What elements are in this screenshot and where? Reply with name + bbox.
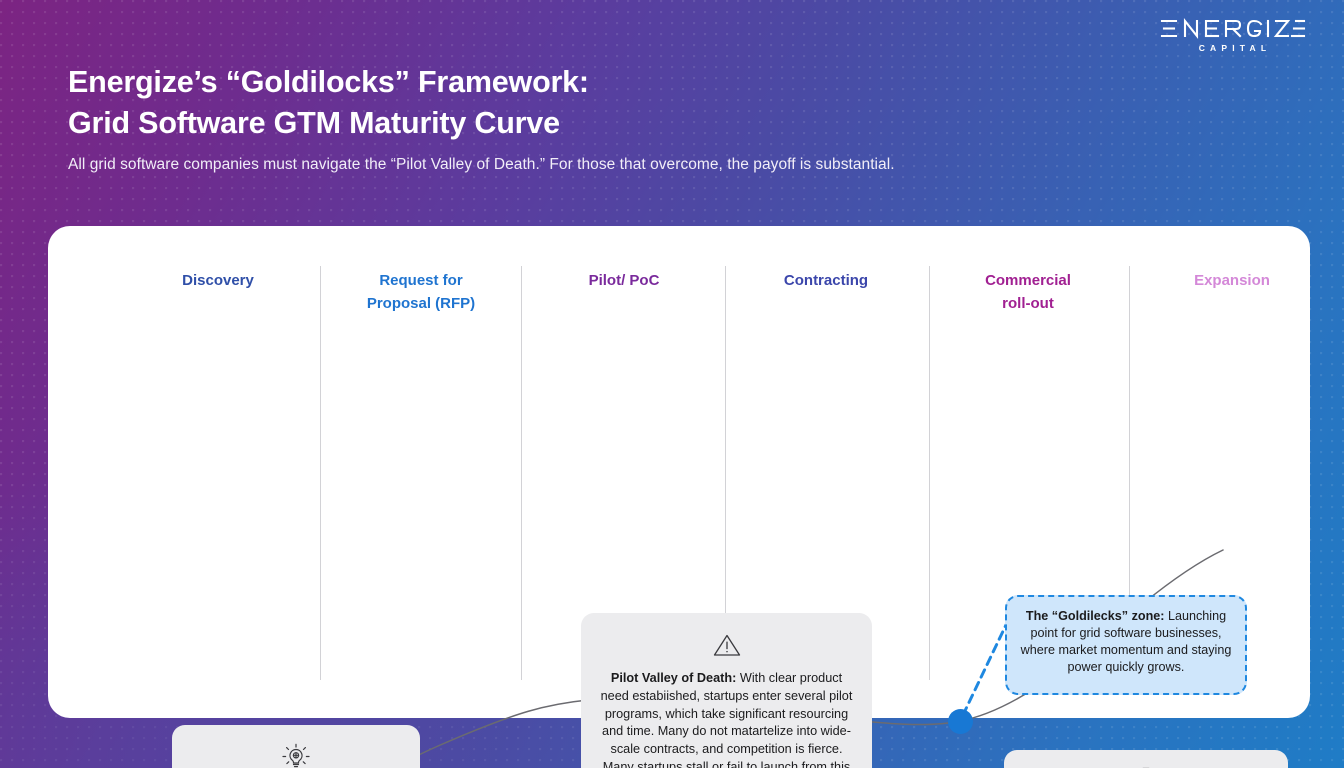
growth-inflection-dot[interactable] xyxy=(948,709,973,734)
goldilocks-zone-text: The “Goldilecks” zone: Launching point f… xyxy=(1020,608,1232,677)
lightbulb-icon xyxy=(280,741,312,768)
header: Energize’s “Goldilocks” Framework: Grid … xyxy=(68,62,1228,174)
page-title: Energize’s “Goldilocks” Framework: Grid … xyxy=(68,62,1228,143)
page-subtitle: All grid software companies must navigat… xyxy=(68,156,1228,174)
card-title: Pilot Valley of Death: xyxy=(611,671,737,685)
warning-triangle-icon xyxy=(597,629,856,661)
pilot-valley-of-death-card: Pilot Valley of Death: With clear produc… xyxy=(581,613,872,768)
vision-stage-card: “Vision” stage: Companies launch to eell… xyxy=(172,725,420,768)
energize-capital-logo: CAPITAL xyxy=(1160,18,1306,53)
card-body: Pilot Valley of Death: With clear produc… xyxy=(597,670,856,768)
energize-wordmark-icon xyxy=(1160,18,1306,40)
utility-buy-in-card: Utility buy-in: Startups earn several ha… xyxy=(1004,750,1288,768)
lightbulb-icon xyxy=(188,741,404,768)
logo-tagline: CAPITAL xyxy=(1160,43,1306,53)
goldilocks-zone-title: The “Goldilecks” zone: xyxy=(1026,609,1165,623)
goldilocks-zone-callout: The “Goldilecks” zone: Launching point f… xyxy=(1005,595,1247,695)
warning-triangle-icon xyxy=(710,629,744,661)
card-description: With clear product need estabiished, sta… xyxy=(601,671,853,768)
framework-panel: DiscoveryRequest for Proposal (RFP)Pilot… xyxy=(48,226,1310,718)
